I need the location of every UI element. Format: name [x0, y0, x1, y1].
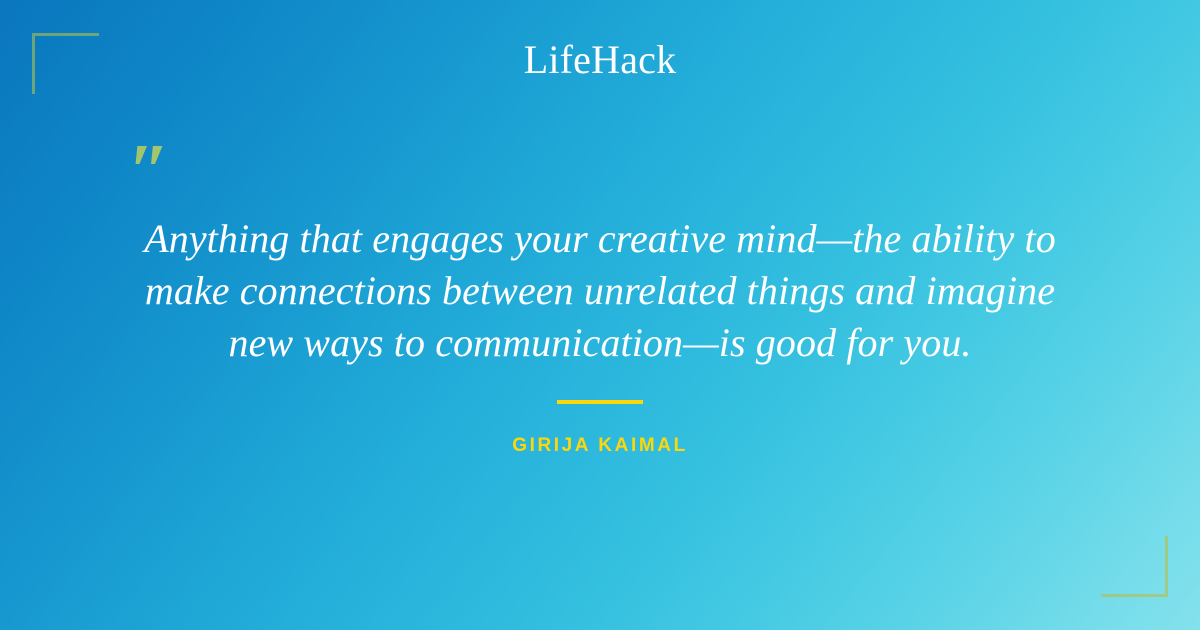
quote-line: new ways to communication—is good for yo… [100, 317, 1100, 369]
quote-block: ″ Anything that engages your creative mi… [0, 0, 1200, 630]
attribution-block: GIRIJA KAIMAL [0, 400, 1200, 456]
quotation-mark-icon: ″ [128, 133, 170, 209]
quote-card: LifeHack ″ Anything that engages your cr… [0, 0, 1200, 630]
attribution-divider [557, 400, 643, 404]
attribution-author: GIRIJA KAIMAL [512, 436, 688, 455]
quote-line: Anything that engages your creative mind… [100, 213, 1100, 265]
quote-line: make connections between unrelated thing… [100, 265, 1100, 317]
quote-text: Anything that engages your creative mind… [100, 213, 1100, 369]
